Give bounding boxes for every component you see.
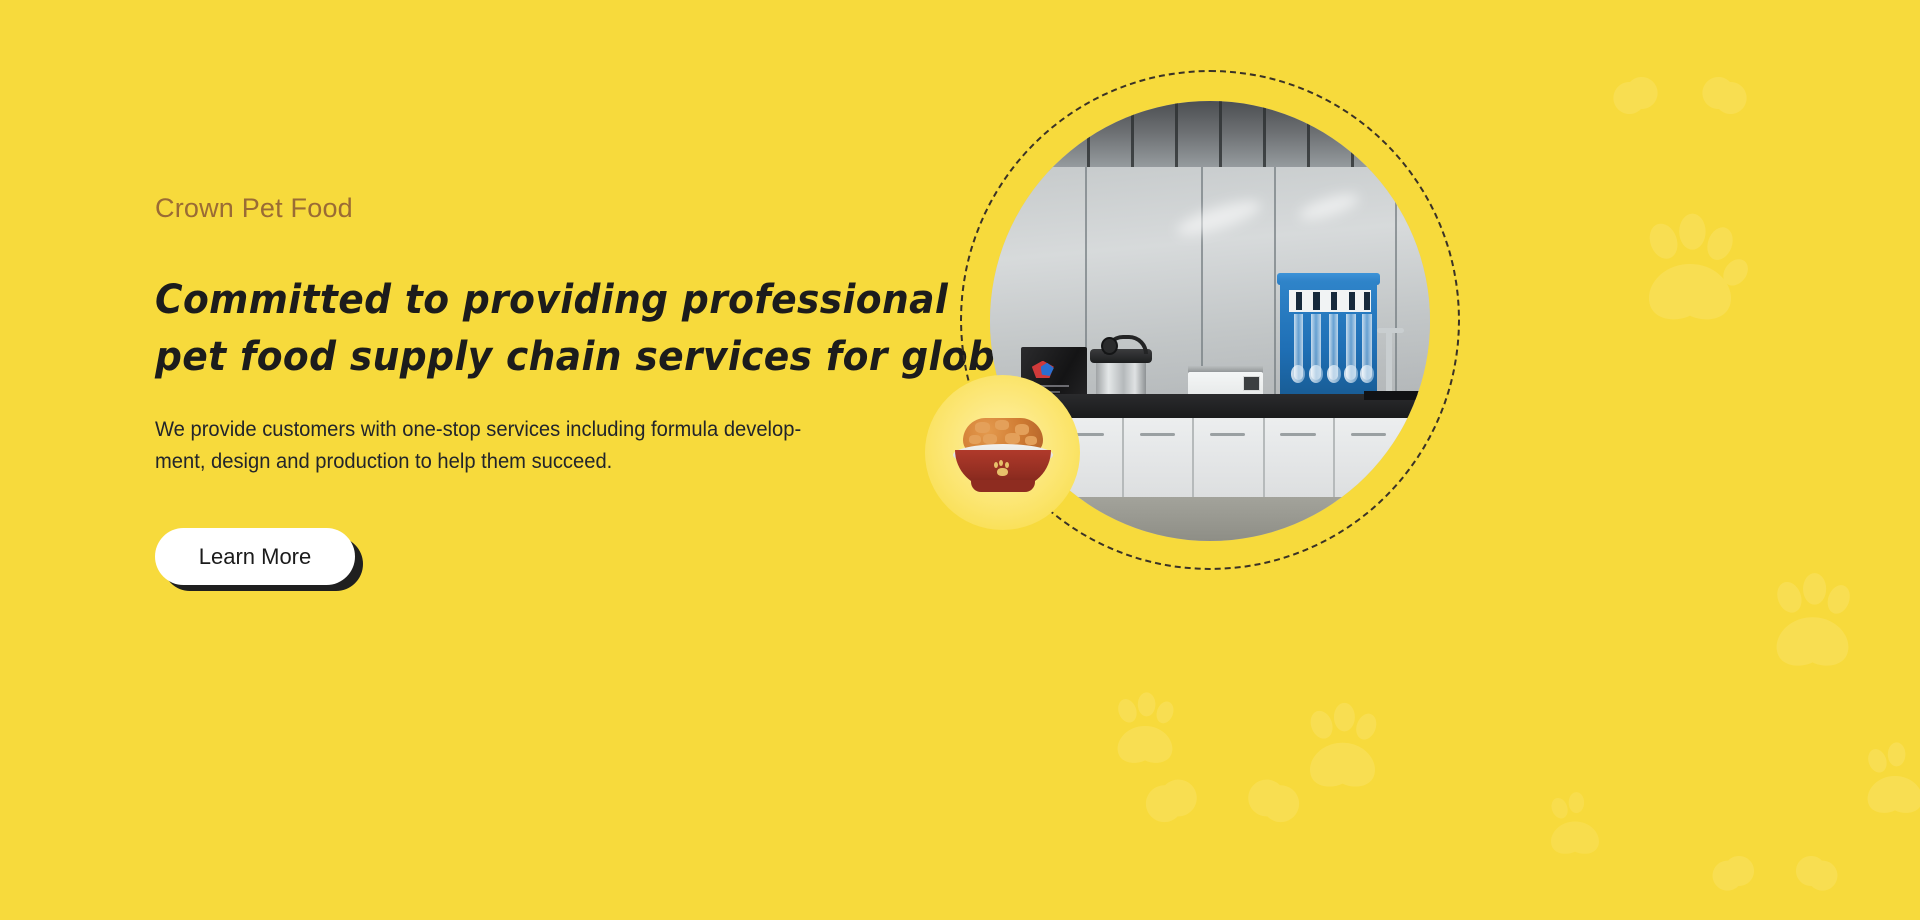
bone-icon (1600, 60, 1760, 140)
pet-bowl-badge (925, 375, 1080, 530)
learn-more-button[interactable]: Learn More (155, 528, 355, 585)
paw-print-icon (994, 462, 1012, 478)
paw-print-icon (1540, 790, 1610, 860)
paw-print-icon (1760, 570, 1865, 675)
headline-line-1: Committed to providing professional (155, 272, 1039, 329)
hero-banner: Crown Pet Food Committed to providing pr… (0, 0, 1920, 920)
learn-more-button-wrapper: Learn More (155, 528, 415, 608)
description-line-1: We provide customers with one-stop servi… (155, 414, 904, 446)
page-title: Committed to providing professional pet … (155, 272, 1039, 386)
paw-print-icon (1295, 700, 1390, 795)
hero-media (960, 70, 1480, 600)
paw-print-icon (1855, 740, 1920, 820)
paw-print-icon (1630, 210, 1750, 330)
paw-print-icon (1105, 690, 1185, 770)
pet-bowl-icon (949, 418, 1057, 488)
hero-description: We provide customers with one-stop servi… (155, 414, 904, 478)
bone-icon (1700, 840, 1850, 915)
description-line-2: ment, design and production to help them… (155, 446, 904, 478)
headline-line-2: pet food supply chain services for globa… (155, 329, 1039, 386)
brand-eyebrow: Crown Pet Food (155, 193, 353, 224)
bone-icon (1130, 760, 1315, 852)
